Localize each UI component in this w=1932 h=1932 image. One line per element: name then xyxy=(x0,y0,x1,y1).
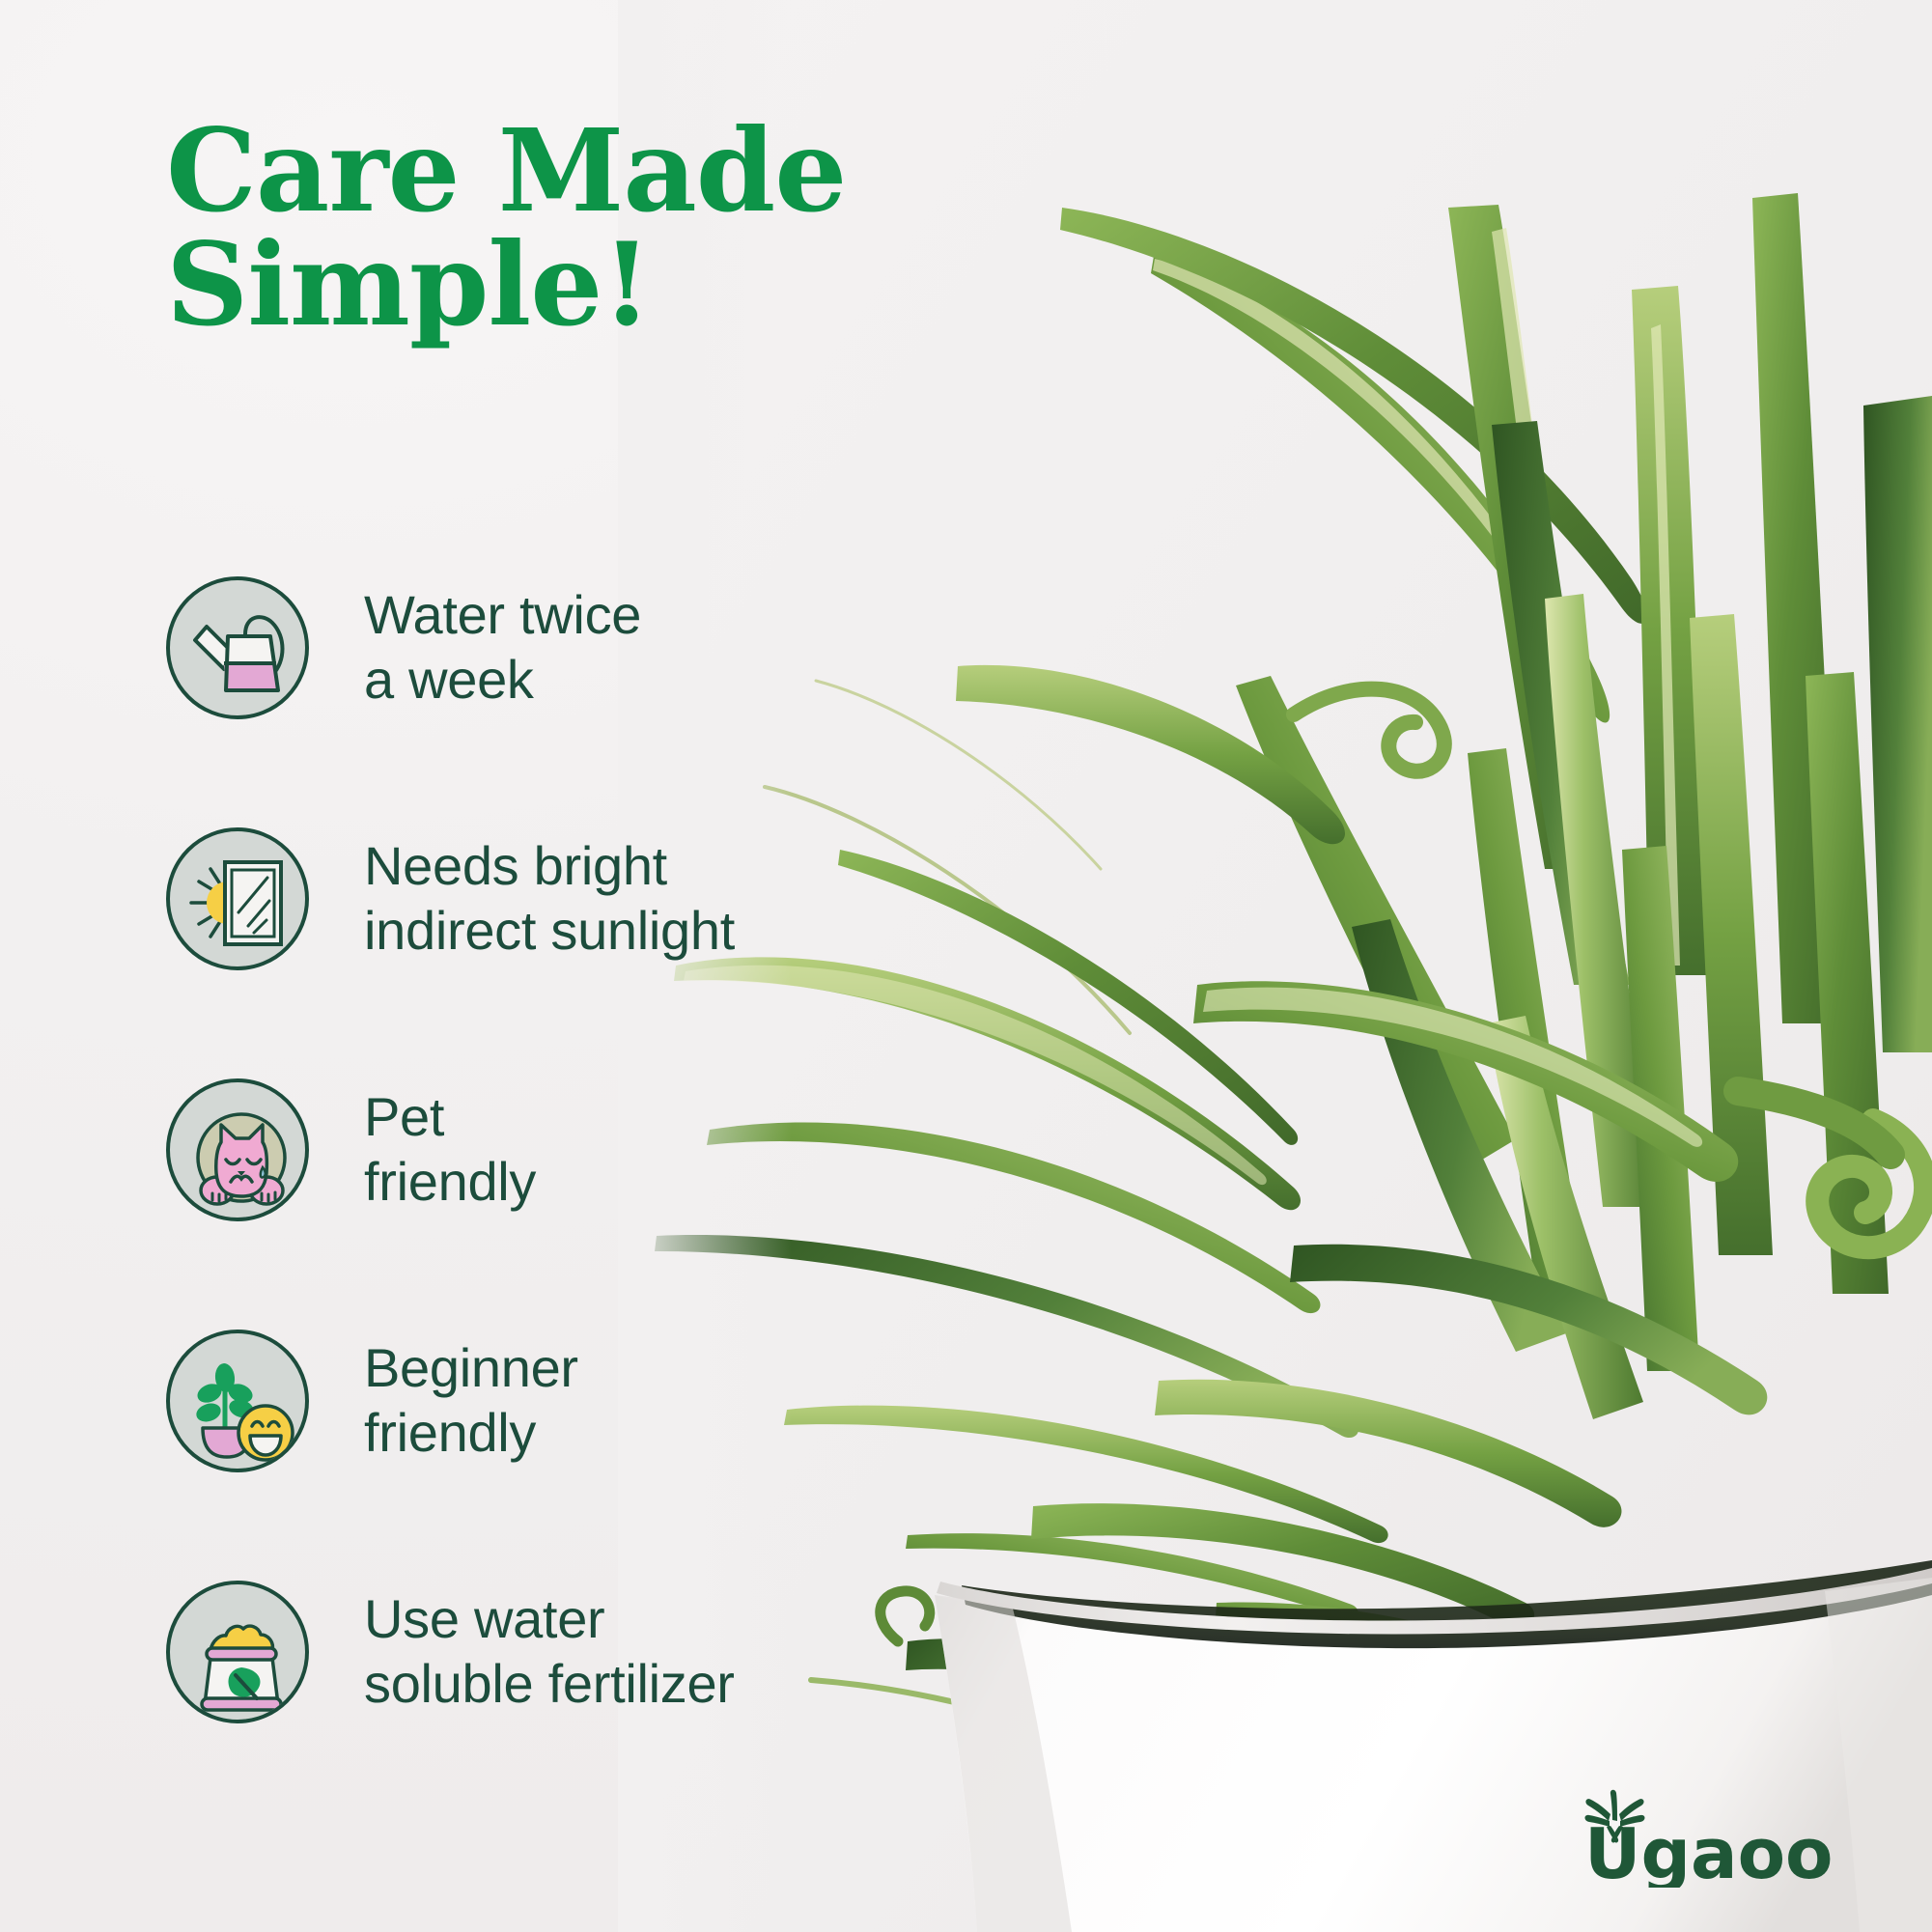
fertilizer-bag-icon xyxy=(166,1581,309,1723)
ugaoo-logo: Ugaoo xyxy=(1571,1781,1899,1888)
page-title: Care Made Simple! xyxy=(166,114,958,342)
cat-face-icon xyxy=(166,1078,309,1221)
svg-text:Ugaoo: Ugaoo xyxy=(1584,1813,1834,1888)
care-item-pet-friendly: Pet friendly xyxy=(166,1070,900,1229)
care-item-label: Pet friendly xyxy=(364,1085,536,1213)
care-item-fertilizer: Use water soluble fertilizer xyxy=(166,1572,900,1731)
care-item-beginner-friendly: Beginner friendly xyxy=(166,1321,900,1480)
potted-plant-smiley-icon xyxy=(166,1330,309,1472)
watering-can-icon xyxy=(166,576,309,719)
care-list: Water twice a week xyxy=(166,568,900,1731)
sun-window-icon xyxy=(166,827,309,970)
poster-canvas: Ugaoo Care Made Simple! xyxy=(0,0,1932,1932)
care-item-water: Water twice a week xyxy=(166,568,900,727)
care-item-label: Use water soluble fertilizer xyxy=(364,1587,735,1715)
care-item-sunlight: Needs bright indirect sunlight xyxy=(166,819,900,978)
care-item-label: Needs bright indirect sunlight xyxy=(364,834,735,962)
care-item-label: Beginner friendly xyxy=(364,1336,578,1464)
care-item-label: Water twice a week xyxy=(364,583,641,711)
